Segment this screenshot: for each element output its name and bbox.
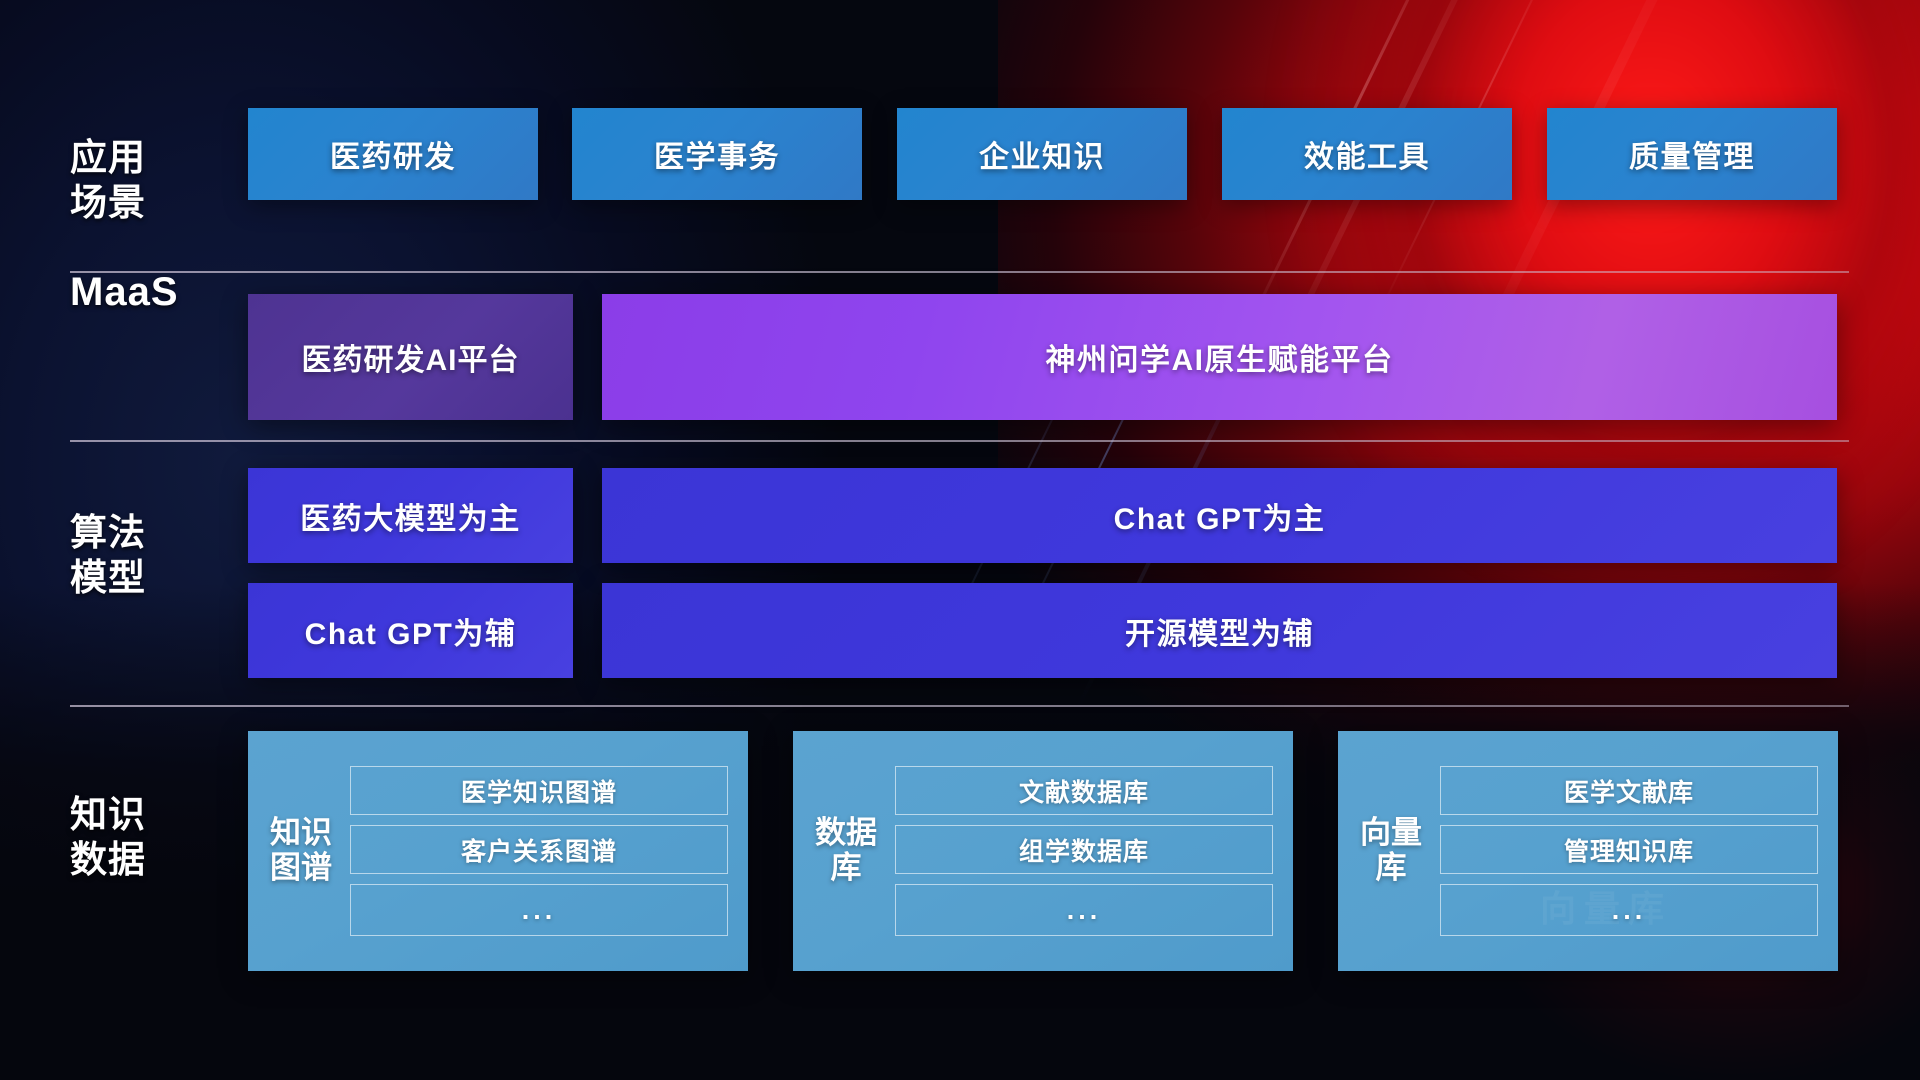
knowledge-item-list: 医学文献库 管理知识库 ... xyxy=(1426,752,1838,950)
row-label-knowledge-line1: 知识 xyxy=(70,792,240,837)
app-card-medicine-rd[interactable]: 医药研发 xyxy=(248,108,538,200)
row-label-application-line2: 场景 xyxy=(70,180,240,225)
knowledge-item-more[interactable]: ... xyxy=(1440,884,1818,936)
app-card-label: 医药研发 xyxy=(330,132,456,176)
knowledge-item-more[interactable]: ... xyxy=(350,884,728,936)
maas-card-pharma-ai-platform[interactable]: 医药研发AI平台 xyxy=(248,294,573,420)
algorithm-card-opensource-secondary[interactable]: 开源模型为辅 xyxy=(602,583,1837,678)
knowledge-item-list: 文献数据库 组学数据库 ... xyxy=(881,752,1293,950)
algorithm-card-label: Chat GPT为辅 xyxy=(305,609,517,653)
knowledge-group-title: 向量库 xyxy=(1356,816,1426,885)
knowledge-item-more[interactable]: ... xyxy=(895,884,1273,936)
algorithm-card-label: 医药大模型为主 xyxy=(300,494,521,538)
app-card-efficiency-tools[interactable]: 效能工具 xyxy=(1222,108,1512,200)
app-card-label: 医学事务 xyxy=(654,132,780,176)
knowledge-group-knowledge-graph[interactable]: 知识图谱 医学知识图谱 客户关系图谱 ... xyxy=(248,731,748,971)
knowledge-group-title: 知识图谱 xyxy=(266,816,336,885)
knowledge-item-list: 医学知识图谱 客户关系图谱 ... xyxy=(336,752,748,950)
row-label-algorithm: 算法 模型 xyxy=(70,510,240,600)
app-card-medical-affairs[interactable]: 医学事务 xyxy=(572,108,862,200)
row-label-algorithm-line1: 算法 xyxy=(70,510,240,555)
row-label-algorithm-line2: 模型 xyxy=(70,555,240,600)
knowledge-group-title: 数据库 xyxy=(811,816,881,885)
maas-card-shenzhou-wenxue-platform[interactable]: 神州问学AI原生赋能平台 xyxy=(602,294,1837,420)
knowledge-item[interactable]: 医学文献库 xyxy=(1440,766,1818,815)
knowledge-group-vector-store[interactable]: 向量库 医学文献库 管理知识库 ... xyxy=(1338,731,1838,971)
maas-card-label: 神州问学AI原生赋能平台 xyxy=(1046,335,1394,379)
app-card-label: 质量管理 xyxy=(1629,132,1755,176)
algorithm-card-label: 开源模型为辅 xyxy=(1125,609,1314,653)
app-card-label: 效能工具 xyxy=(1304,132,1430,176)
app-card-quality-management[interactable]: 质量管理 xyxy=(1547,108,1837,200)
divider-application-maas xyxy=(70,271,1849,273)
row-label-application: 应用 场景 xyxy=(70,135,240,225)
row-label-maas-text: MaaS xyxy=(70,268,240,317)
app-card-enterprise-knowledge[interactable]: 企业知识 xyxy=(897,108,1187,200)
knowledge-item[interactable]: 客户关系图谱 xyxy=(350,825,728,874)
knowledge-item[interactable]: 组学数据库 xyxy=(895,825,1273,874)
algorithm-card-pharma-llm-primary[interactable]: 医药大模型为主 xyxy=(248,468,573,563)
algorithm-card-label: Chat GPT为主 xyxy=(1114,494,1326,538)
algorithm-card-chatgpt-secondary[interactable]: Chat GPT为辅 xyxy=(248,583,573,678)
row-label-knowledge: 知识 数据 xyxy=(70,792,240,882)
algorithm-card-chatgpt-primary[interactable]: Chat GPT为主 xyxy=(602,468,1837,563)
app-card-label: 企业知识 xyxy=(979,132,1105,176)
row-label-maas: MaaS xyxy=(70,268,240,317)
knowledge-group-database[interactable]: 数据库 文献数据库 组学数据库 ... xyxy=(793,731,1293,971)
row-label-knowledge-line2: 数据 xyxy=(70,837,240,882)
knowledge-item[interactable]: 文献数据库 xyxy=(895,766,1273,815)
divider-algorithm-knowledge xyxy=(70,705,1849,707)
divider-maas-algorithm xyxy=(70,440,1849,442)
maas-card-label: 医药研发AI平台 xyxy=(302,335,520,379)
architecture-diagram: 应用 场景 医药研发 医学事务 企业知识 效能工具 质量管理 MaaS 医药研发… xyxy=(0,0,1920,1080)
knowledge-item[interactable]: 管理知识库 xyxy=(1440,825,1818,874)
knowledge-item[interactable]: 医学知识图谱 xyxy=(350,766,728,815)
row-label-application-line1: 应用 xyxy=(70,135,240,180)
